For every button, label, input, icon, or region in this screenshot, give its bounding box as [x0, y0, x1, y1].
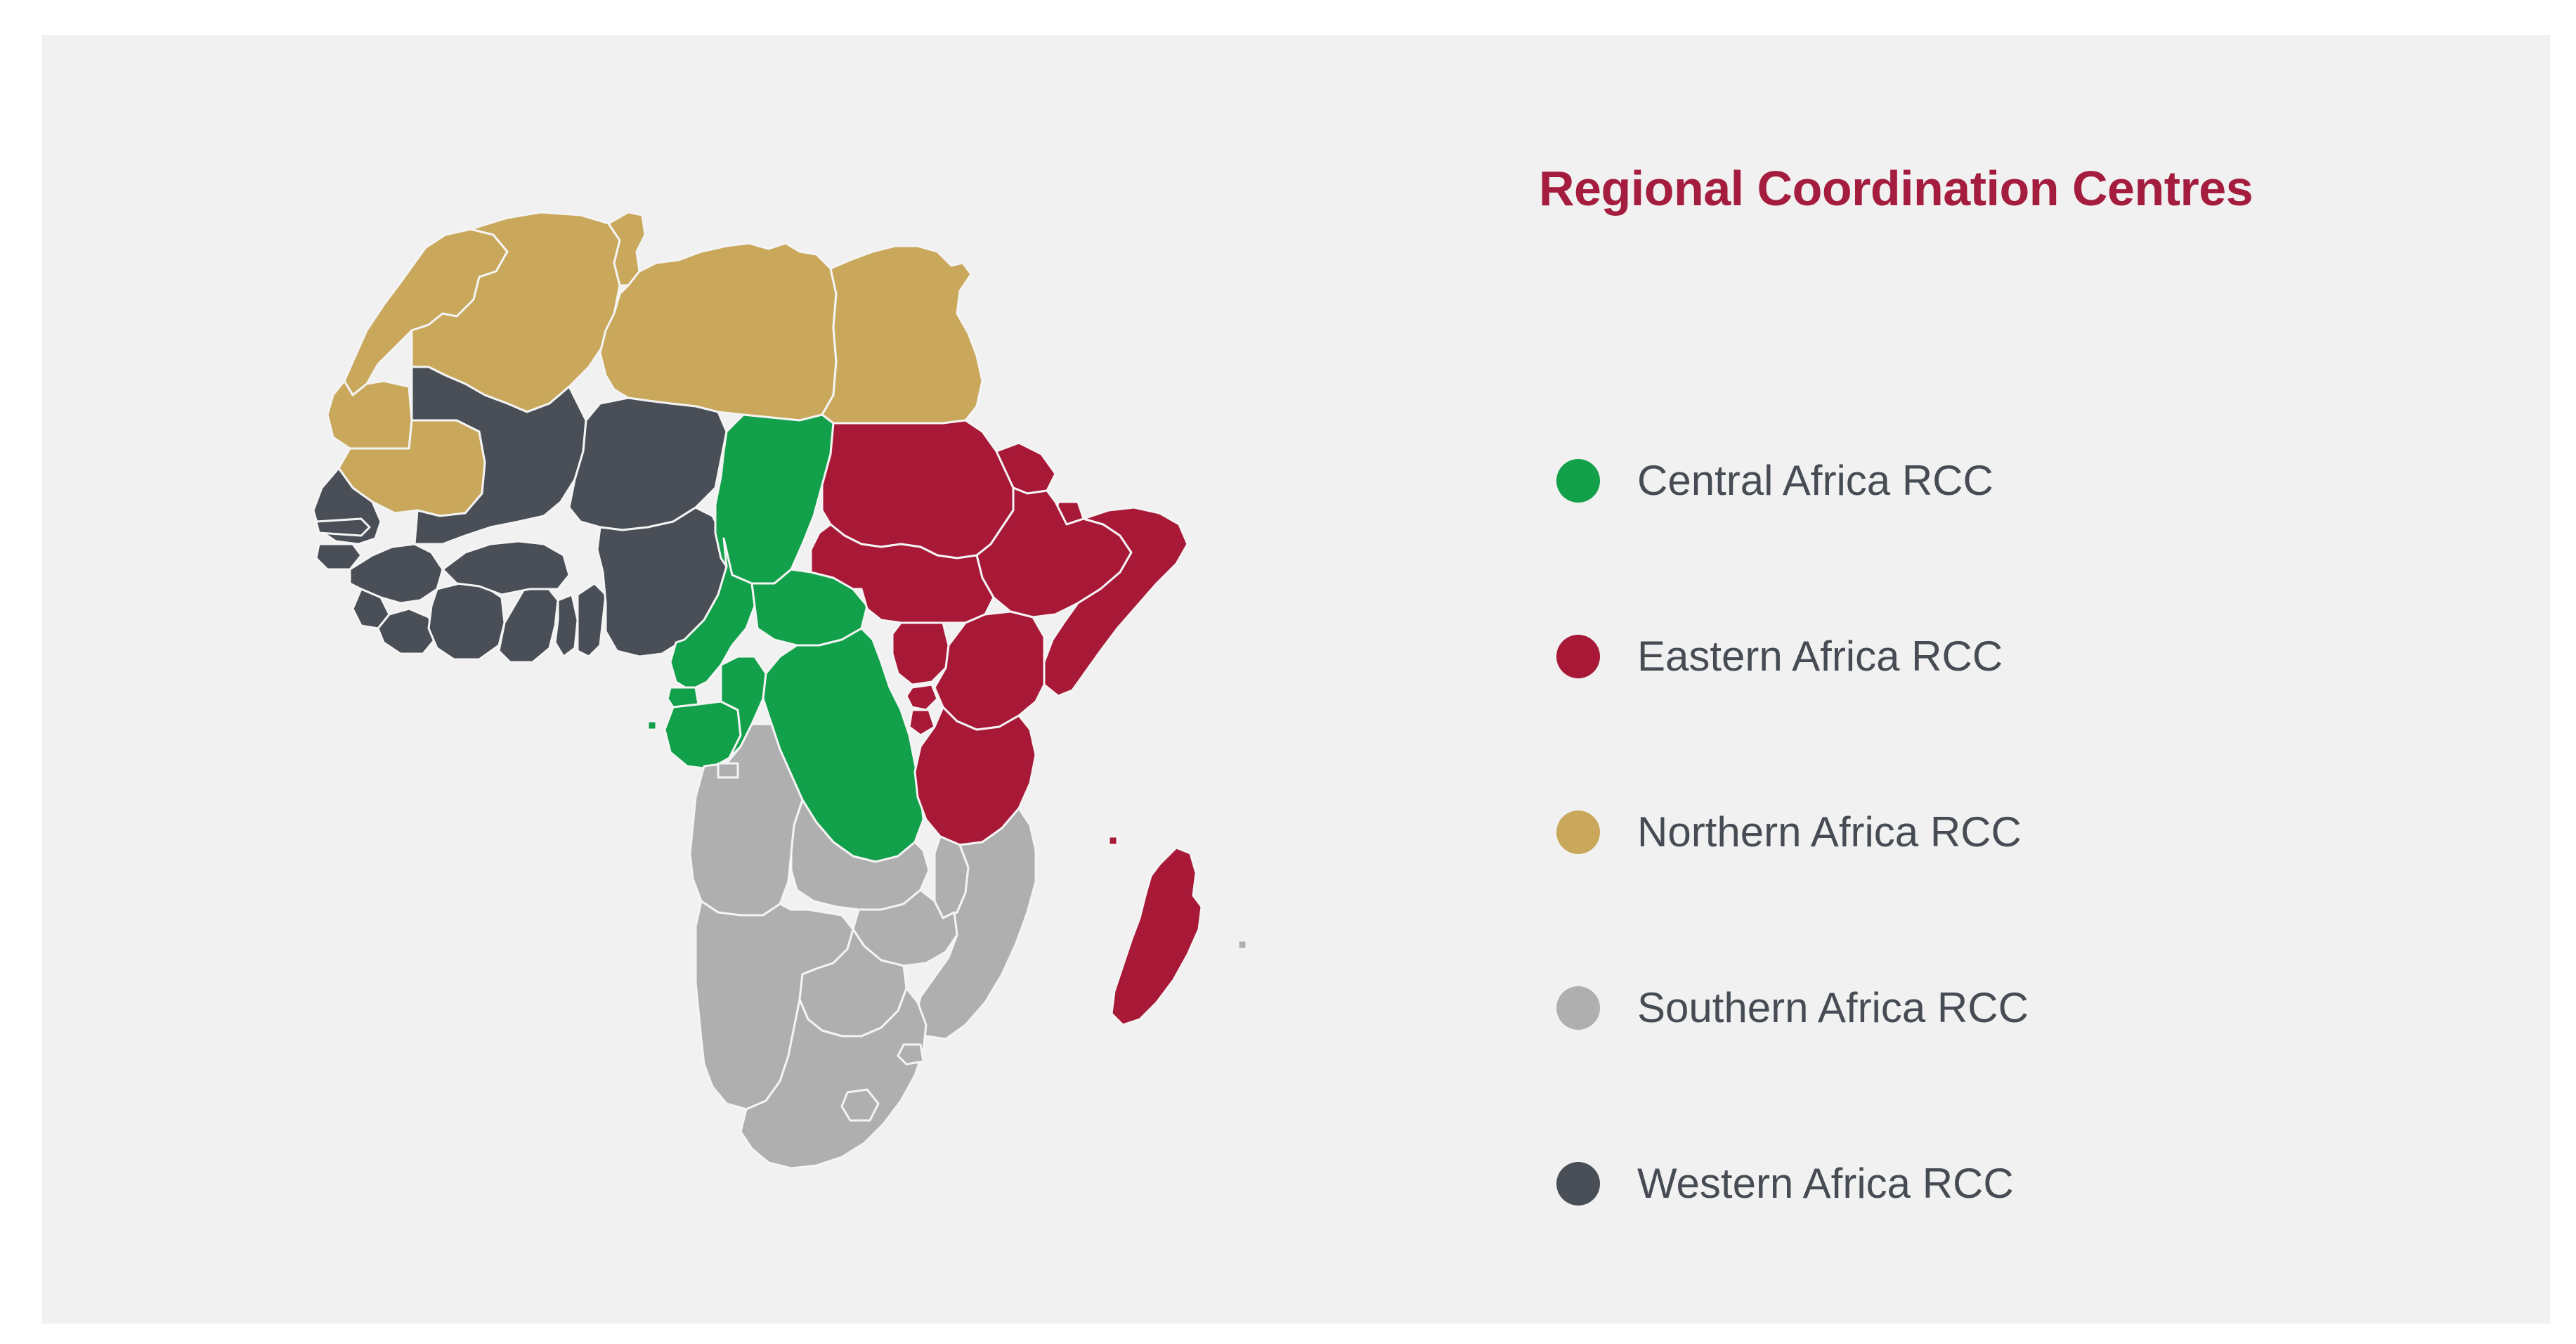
country-comoros[interactable] — [1109, 836, 1117, 845]
country-benin[interactable] — [578, 583, 606, 657]
africa-map[interactable] — [232, 105, 1328, 1286]
country-ghana[interactable] — [499, 586, 558, 662]
island-mauritius[interactable] — [1238, 941, 1247, 949]
circle-marker-icon — [1556, 635, 1600, 678]
legend-item-eastern-africa[interactable]: Eastern Africa RCC — [1490, 569, 2530, 744]
circle-marker-icon — [1556, 459, 1600, 503]
legend-item-label: Western Africa RCC — [1637, 1163, 2014, 1205]
country-sudan[interactable] — [822, 420, 1019, 558]
legend-item-central-africa[interactable]: Central Africa RCC — [1490, 393, 2530, 569]
country-togo[interactable] — [555, 595, 578, 657]
legend-item-northern-africa[interactable]: Northern Africa RCC — [1490, 744, 2530, 920]
page-title: Regional Coordination Centres — [1539, 162, 2530, 216]
circle-marker-icon — [1556, 986, 1600, 1030]
country-kenya[interactable] — [935, 612, 1044, 730]
country-sao-tome[interactable] — [648, 721, 656, 730]
country-gambia[interactable] — [316, 519, 370, 536]
legend-item-label: Central Africa RCC — [1637, 460, 1993, 502]
country-cabinda[interactable] — [718, 763, 738, 777]
country-madagascar[interactable] — [1112, 848, 1202, 1025]
legend-item-southern-africa[interactable]: Southern Africa RCC — [1490, 920, 2530, 1096]
legend-item-label: Southern Africa RCC — [1637, 987, 2029, 1029]
legend-item-label: Northern Africa RCC — [1637, 811, 2022, 853]
legend-item-western-africa[interactable]: Western Africa RCC — [1490, 1096, 2530, 1272]
legend-item-label: Eastern Africa RCC — [1637, 635, 2003, 678]
country-rwanda[interactable] — [906, 685, 937, 710]
legend-column: Regional Coordination Centres Central Af… — [1490, 162, 2530, 1258]
circle-marker-icon — [1556, 1162, 1600, 1206]
circle-marker-icon — [1556, 810, 1600, 854]
country-cote-divoire[interactable] — [429, 583, 505, 659]
country-western-sahara[interactable] — [327, 381, 412, 448]
content-panel: Regional Coordination Centres Central Af… — [42, 35, 2550, 1324]
country-uganda[interactable] — [892, 623, 949, 685]
legend-list: Central Africa RCC Eastern Africa RCC No… — [1490, 393, 2530, 1272]
country-egypt[interactable] — [822, 246, 982, 423]
